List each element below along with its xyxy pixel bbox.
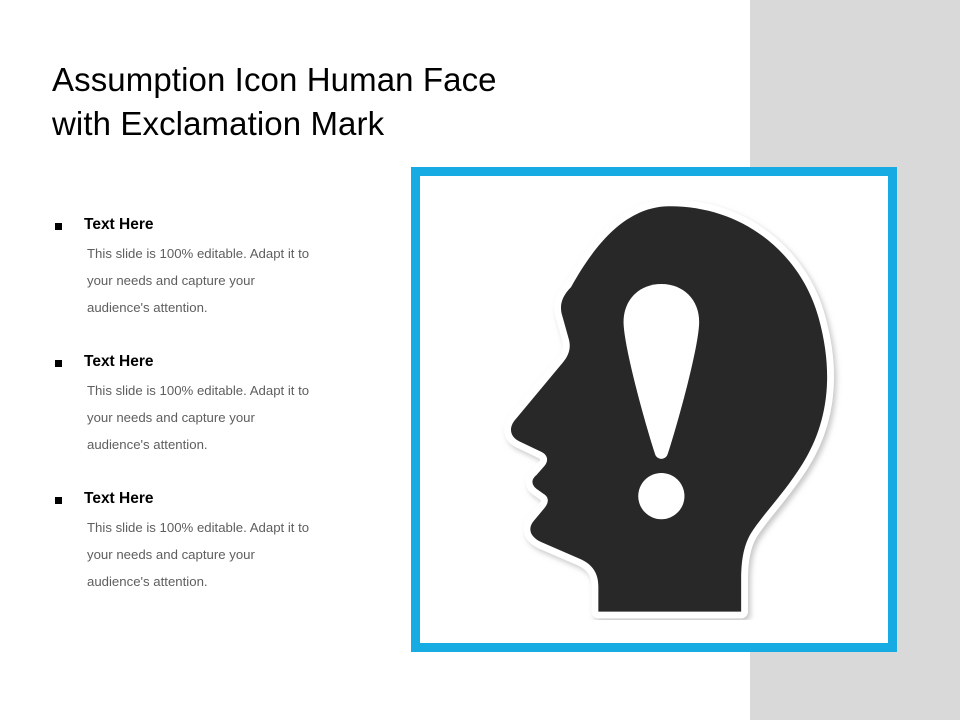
slide-canvas: Assumption Icon Human Face with Exclamat… <box>0 0 960 720</box>
list-item[interactable]: Text Here This slide is 100% editable. A… <box>54 351 374 458</box>
list-item[interactable]: Text Here This slide is 100% editable. A… <box>54 488 374 595</box>
bullet-list: Text Here This slide is 100% editable. A… <box>54 214 374 595</box>
blue-bordered-image-frame <box>411 167 897 652</box>
illustration-area <box>420 176 888 643</box>
list-item-heading: Text Here <box>84 488 374 510</box>
list-item-body: This slide is 100% editable. Adapt it to… <box>87 377 372 458</box>
list-item[interactable]: Text Here This slide is 100% editable. A… <box>54 214 374 321</box>
human-head-profile-with-exclamation-mark-icon <box>444 200 864 620</box>
square-bullet-icon <box>55 223 62 230</box>
square-bullet-icon <box>55 360 62 367</box>
list-item-body: This slide is 100% editable. Adapt it to… <box>87 514 372 595</box>
square-bullet-icon <box>55 497 62 504</box>
list-item-heading: Text Here <box>84 214 374 236</box>
exclamation-mark-dot <box>638 473 684 519</box>
page-title: Assumption Icon Human Face with Exclamat… <box>52 58 712 146</box>
list-item-heading: Text Here <box>84 351 374 373</box>
list-item-body: This slide is 100% editable. Adapt it to… <box>87 240 372 321</box>
